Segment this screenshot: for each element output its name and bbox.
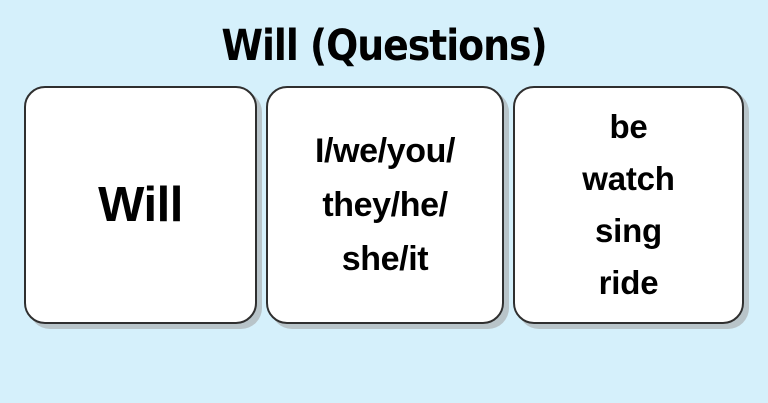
card-base-verb-text: be watch sing ride: [576, 101, 681, 309]
card-line: I/we/you/: [315, 124, 455, 178]
card-line: she/it: [315, 232, 455, 286]
card-line: sing: [582, 205, 675, 257]
card-row: Will I/we/you/ they/he/ she/it be watch …: [24, 86, 744, 324]
slide-canvas: Will (Questions) Will I/we/you/ they/he/…: [0, 0, 768, 403]
card-subject[interactable]: I/we/you/ they/he/ she/it: [266, 86, 504, 324]
card-line: ride: [582, 257, 675, 309]
card-line: they/he/: [315, 178, 455, 232]
card-line: watch: [582, 153, 675, 205]
card-auxiliary[interactable]: Will: [24, 86, 257, 324]
card-line: be: [582, 101, 675, 153]
page-title: Will (Questions): [46, 18, 722, 74]
card-line: Will: [98, 177, 183, 233]
card-subject-text: I/we/you/ they/he/ she/it: [309, 124, 461, 286]
card-base-verb[interactable]: be watch sing ride: [513, 86, 744, 324]
card-auxiliary-text: Will: [92, 177, 189, 233]
